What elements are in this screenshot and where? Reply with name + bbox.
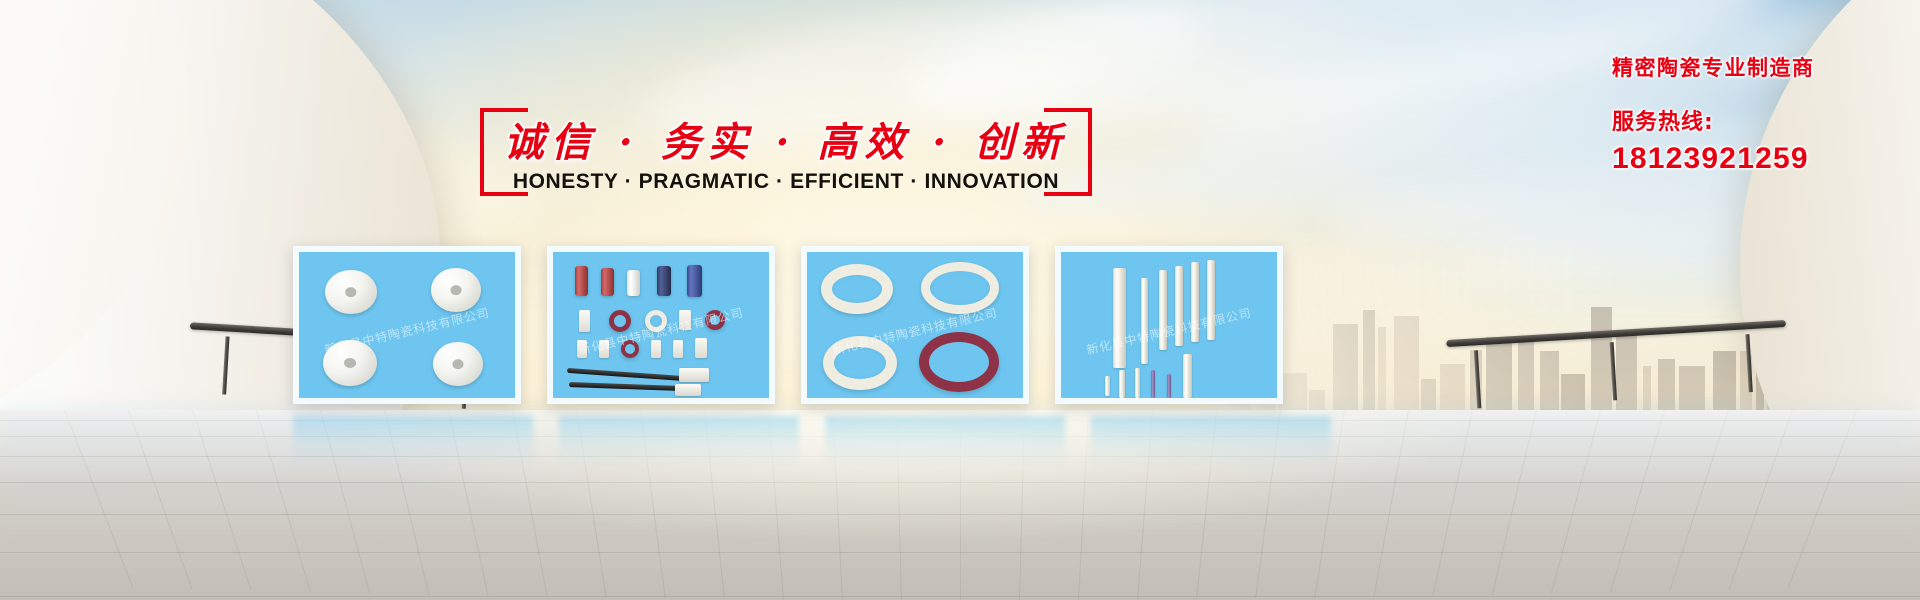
ceramic-ring-small: [621, 340, 639, 358]
ceramic-socket: [325, 270, 377, 314]
ceramic-ring-red: [919, 332, 999, 392]
product-panel-ceramic-sockets[interactable]: 新化县中特陶瓷科技有限公司: [293, 246, 521, 404]
ceramic-chip: [695, 338, 707, 358]
product-panel-ceramic-tubes[interactable]: 新化县中特陶瓷科技有限公司: [547, 246, 775, 404]
panel-reflection: [293, 416, 533, 468]
ceramic-tube: [657, 266, 671, 296]
ceramic-rod-small: [1167, 374, 1171, 398]
ceramic-rod-small: [1183, 354, 1192, 398]
ceramic-chip: [579, 310, 590, 332]
ceramic-chip: [679, 310, 691, 330]
ceramic-tube: [687, 265, 702, 297]
ceramic-ring-small: [609, 310, 631, 332]
ceramic-rod: [1141, 278, 1148, 364]
ceramic-ring: [821, 264, 893, 314]
hotline-label: 服务热线:: [1612, 104, 1862, 136]
railing-post: [1474, 350, 1481, 408]
wire-connector: [675, 384, 701, 396]
slogan-english: HONESTY · PRAGMATIC · EFFICIENT · INNOVA…: [480, 170, 1092, 194]
panel-artwork: [553, 252, 769, 398]
ceramic-chip: [651, 340, 661, 358]
ceramic-rod-small: [1119, 370, 1125, 398]
ceramic-rod: [1191, 262, 1199, 342]
product-panel-ceramic-rods[interactable]: 新化县中特陶瓷科技有限公司: [1055, 246, 1283, 404]
lead-wire: [567, 368, 685, 381]
ceramic-socket: [433, 342, 483, 386]
ceramic-tube: [601, 268, 614, 296]
ceramic-ring: [921, 262, 999, 314]
ceramic-rod: [1207, 260, 1215, 340]
ceramic-rod: [1159, 270, 1167, 350]
railing-post: [1746, 334, 1753, 392]
panel-artwork: [807, 252, 1023, 398]
panel-reflection: [825, 416, 1065, 468]
ceramic-chip: [673, 340, 683, 358]
company-tagline: 精密陶瓷专业制造商: [1612, 52, 1862, 82]
panel-artwork: [1061, 252, 1277, 398]
ceramic-ring-small: [645, 310, 667, 332]
slogan-chinese: 诚信 · 务实 · 高效 · 创新: [480, 110, 1092, 168]
product-panel-strip: 新化县中特陶瓷科技有限公司: [293, 246, 1283, 404]
ceramic-tube: [575, 266, 588, 296]
panel-reflection: [1091, 416, 1331, 468]
ceramic-rod-small: [1135, 368, 1140, 398]
panel-artwork: [299, 252, 515, 398]
ceramic-chip: [577, 340, 587, 358]
ceramic-ring: [823, 336, 897, 390]
ceramic-rod: [1175, 266, 1183, 346]
ceramic-socket: [431, 268, 481, 312]
hotline-number[interactable]: 18123921259: [1612, 142, 1862, 176]
wire-connector: [679, 368, 709, 382]
panel-reflections: [293, 416, 1331, 468]
lead-wire: [569, 382, 681, 391]
panel-reflection: [559, 416, 799, 468]
ceramic-rod-small: [1105, 376, 1110, 396]
slogan-block: 诚信 · 务实 · 高效 · 创新 HONESTY · PRAGMATIC · …: [480, 108, 1092, 200]
ceramic-rod-small: [1151, 370, 1155, 398]
railing-post: [1610, 342, 1617, 400]
ceramic-tube: [627, 270, 640, 296]
ceramic-socket: [323, 340, 377, 386]
ceramic-rod: [1113, 268, 1126, 368]
contact-block: 精密陶瓷专业制造商 服务热线: 18123921259: [1612, 52, 1862, 176]
product-panel-ceramic-rings[interactable]: 新化县中特陶瓷科技有限公司: [801, 246, 1029, 404]
ceramic-ring-small: [705, 310, 725, 330]
railing-post: [222, 336, 229, 394]
ceramic-chip: [599, 340, 609, 358]
hero-banner: 诚信 · 务实 · 高效 · 创新 HONESTY · PRAGMATIC · …: [0, 0, 1920, 600]
